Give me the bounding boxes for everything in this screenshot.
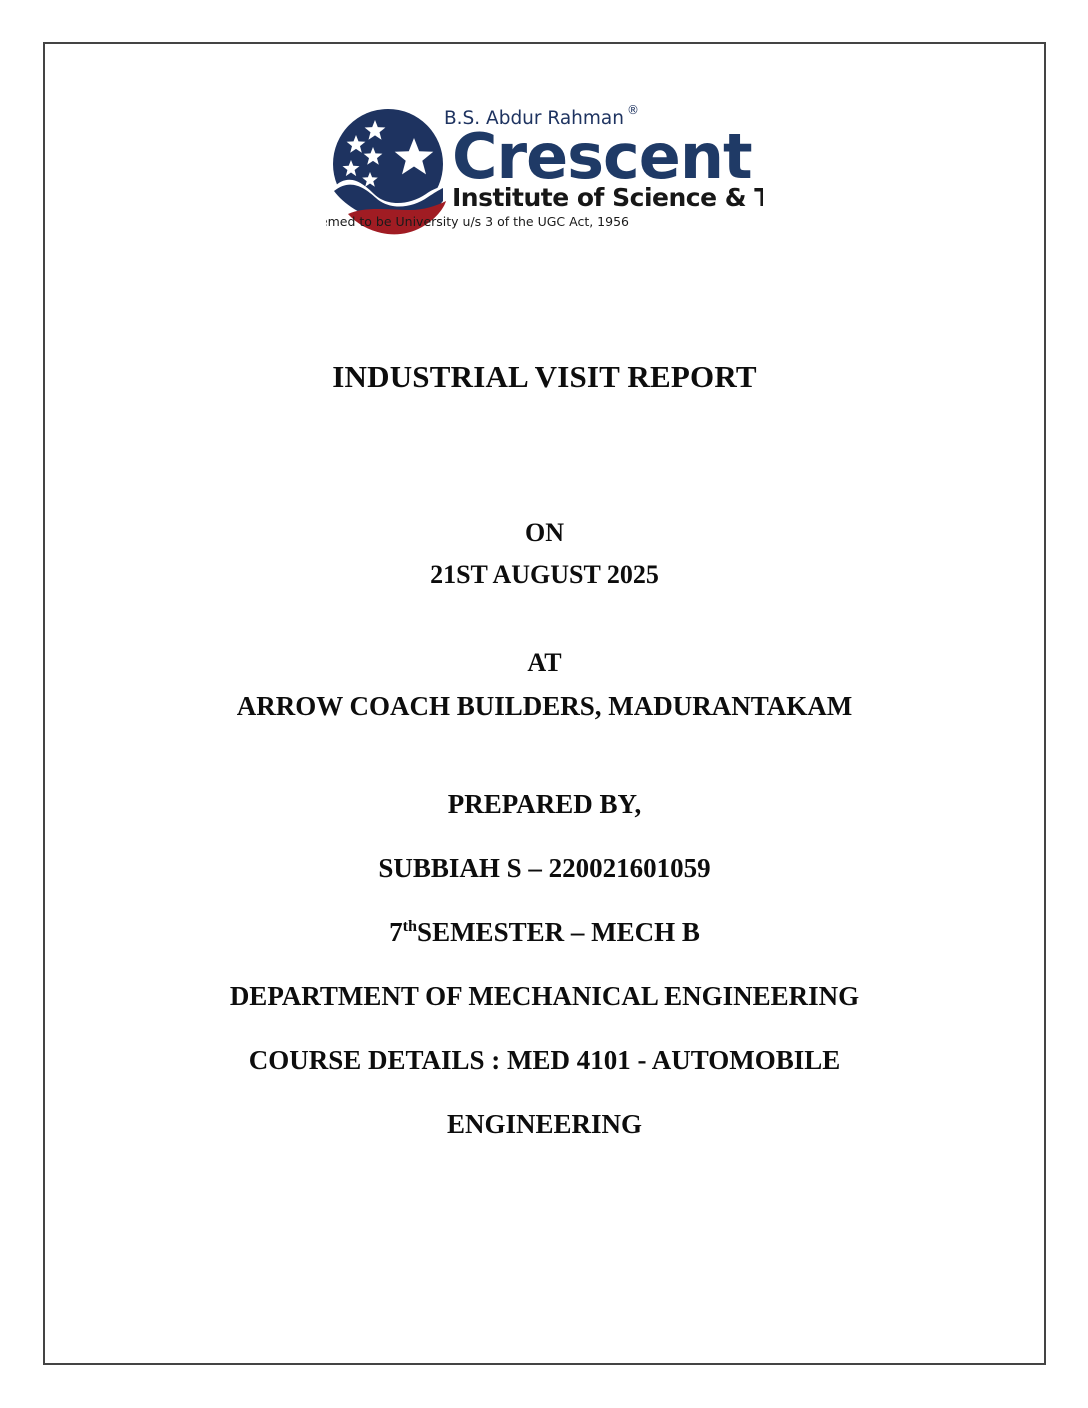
- page-content: B.S. Abdur Rahman ® Crescent Institute o…: [43, 42, 1046, 1365]
- semester-and-section: 7thSEMESTER – MECH B: [43, 900, 1046, 964]
- logo-container: B.S. Abdur Rahman ® Crescent Institute o…: [43, 102, 1046, 252]
- logo-deemed-line: Deemed to be University u/s 3 of the UGC…: [326, 214, 629, 229]
- logo-subtitle: Institute of Science & Technology: [452, 183, 763, 212]
- crescent-institute-logo: B.S. Abdur Rahman ® Crescent Institute o…: [326, 102, 763, 252]
- semester-ordinal-suffix: th: [403, 917, 417, 935]
- semester-rest: SEMESTER – MECH B: [417, 917, 700, 947]
- semester-number: 7: [389, 917, 403, 947]
- visit-date: 21ST AUGUST 2025: [43, 554, 1046, 596]
- course-details-line-1: COURSE DETAILS : MED 4101 - AUTOMOBILE: [43, 1028, 1046, 1092]
- department-name: DEPARTMENT OF MECHANICAL ENGINEERING: [43, 964, 1046, 1028]
- visit-venue-block: AT ARROW COACH BUILDERS, MADURANTAKAM: [43, 642, 1046, 728]
- prepared-by-block: PREPARED BY, SUBBIAH S – 220021601059 7t…: [43, 772, 1046, 1156]
- visit-date-block: ON 21ST AUGUST 2025: [43, 512, 1046, 596]
- venue-name: ARROW COACH BUILDERS, MADURANTAKAM: [43, 684, 1046, 728]
- page-title: INDUSTRIAL VISIT REPORT: [43, 359, 1046, 395]
- course-details-line-2: ENGINEERING: [43, 1092, 1046, 1156]
- on-label: ON: [43, 512, 1046, 554]
- student-name-and-register-number: SUBBIAH S – 220021601059: [43, 836, 1046, 900]
- at-label: AT: [43, 642, 1046, 684]
- document-page: B.S. Abdur Rahman ® Crescent Institute o…: [0, 0, 1088, 1408]
- prepared-by-label: PREPARED BY,: [43, 772, 1046, 836]
- registered-mark-icon: ®: [627, 103, 639, 117]
